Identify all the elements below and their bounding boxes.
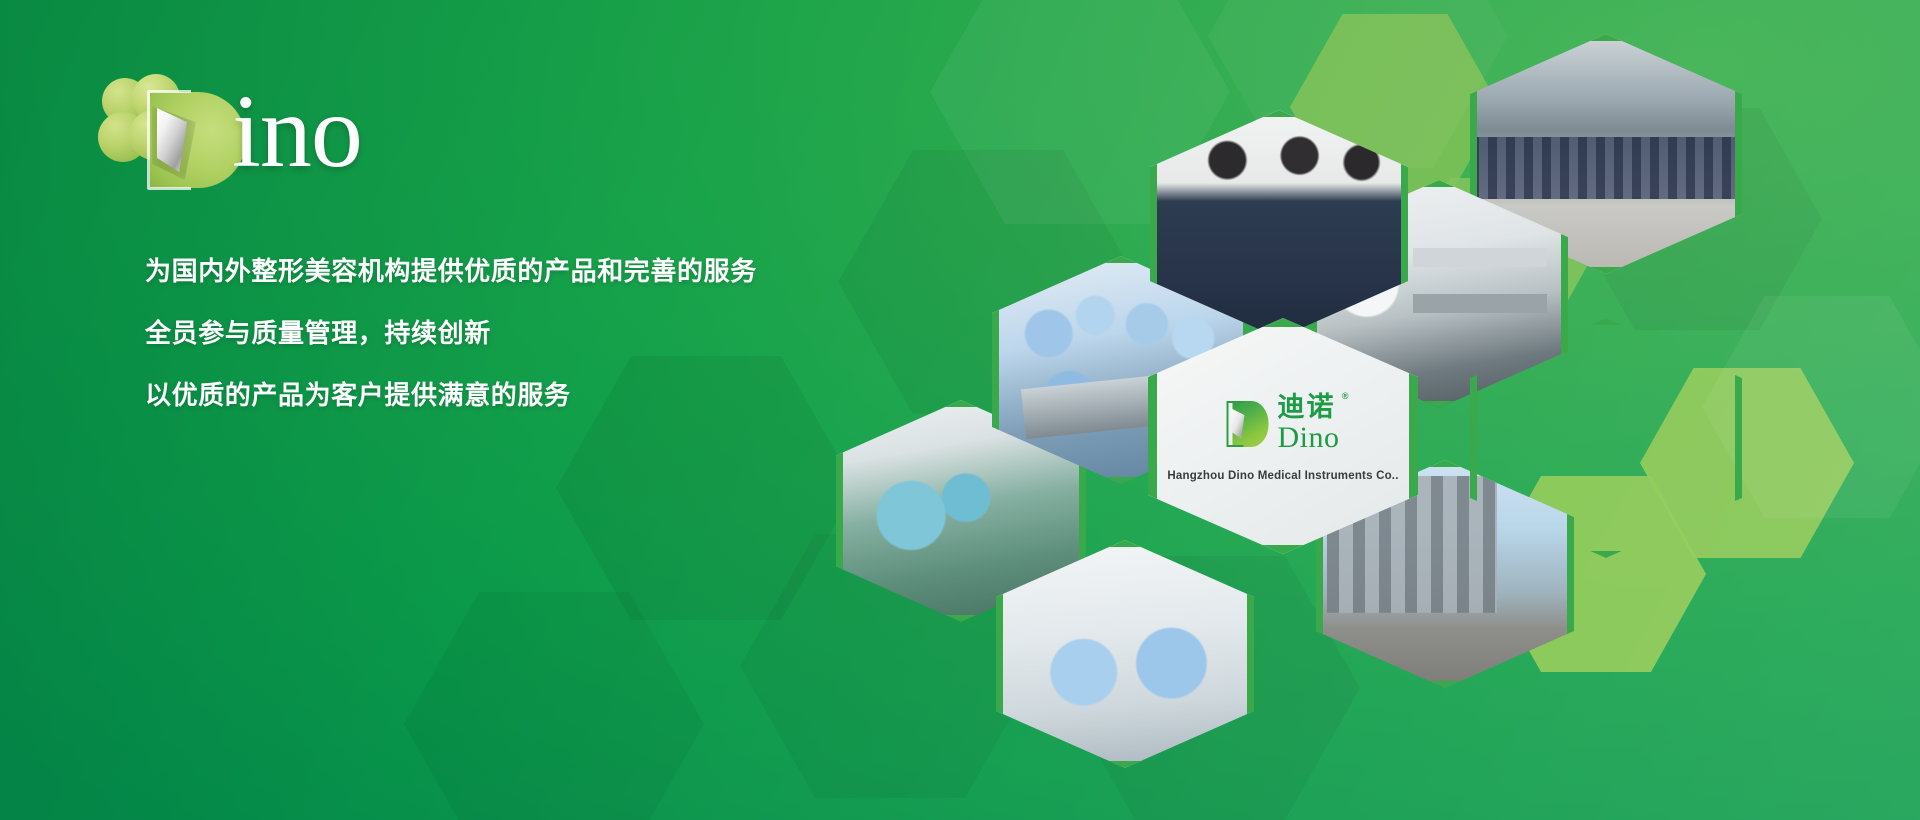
center-logo-en: Dino bbox=[1278, 423, 1340, 453]
hexagon-photo-collage: 迪诺® Dino Hangzhou Dino Medical Instrumen… bbox=[820, 110, 1920, 710]
slogan-line-3: 以优质的产品为客户提供满意的服务 bbox=[145, 382, 865, 408]
slogan-line-1: 为国内外整形美容机构提供优质的产品和完善的服务 bbox=[145, 258, 865, 284]
company-name: Hangzhou Dino Medical Instruments Co.. bbox=[1148, 470, 1418, 482]
dino-logo: ino bbox=[96, 72, 426, 182]
slogan-line-2: 全员参与质量管理，持续创新 bbox=[145, 320, 865, 346]
center-logo-cn: 迪诺® bbox=[1278, 394, 1340, 421]
slogan-block: 为国内外整形美容机构提供优质的产品和完善的服务 全员参与质量管理，持续创新 以优… bbox=[145, 258, 865, 408]
hero-copy: ino 为国内外整形美容机构提供优质的产品和完善的服务 全员参与质量管理，持续创… bbox=[0, 0, 900, 820]
registered-mark-icon: ® bbox=[1342, 392, 1351, 401]
hero-banner: ino 为国内外整形美容机构提供优质的产品和完善的服务 全员参与质量管理，持续创… bbox=[0, 0, 1920, 820]
center-logo-mark: 迪诺® Dino bbox=[1227, 394, 1340, 453]
center-logo-text: 迪诺® Dino bbox=[1278, 394, 1340, 453]
brand-wordmark: ino bbox=[232, 80, 362, 184]
center-logo-d-icon bbox=[1227, 401, 1269, 447]
